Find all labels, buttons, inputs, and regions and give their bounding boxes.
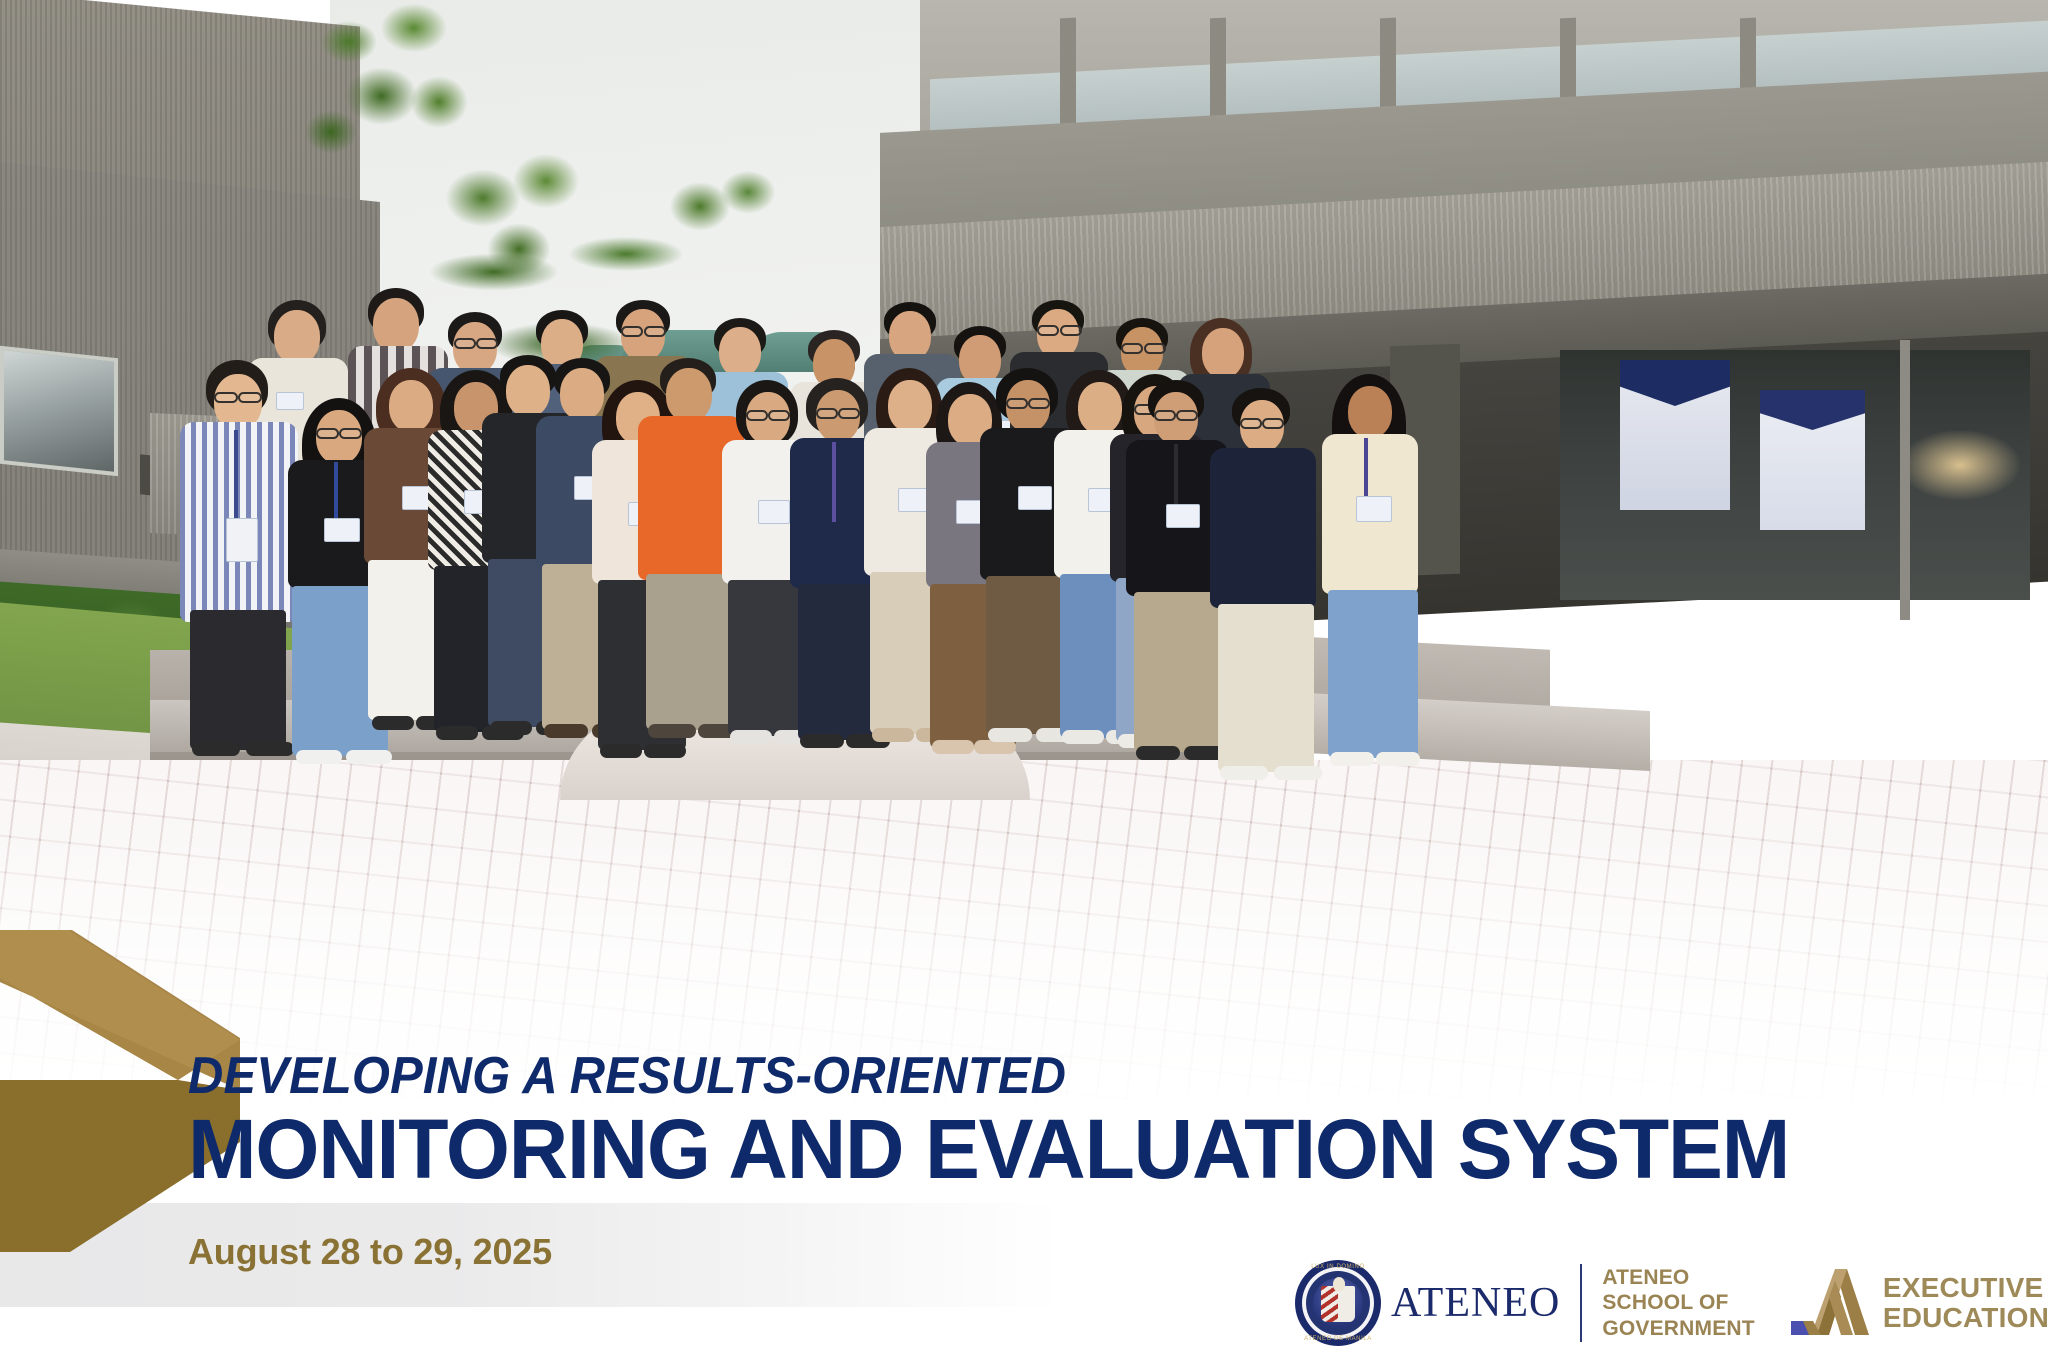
- event-poster: DEVELOPING A RESULTS-ORIENTED MONITORING…: [0, 0, 2048, 1365]
- ateneo-a-mark-icon: [1791, 1267, 1869, 1339]
- nametag-christel: [1356, 496, 1392, 522]
- lobby-standee-left: [1620, 360, 1730, 510]
- exec-line-2: EDUCATION: [1883, 1303, 2048, 1333]
- seal-top-motto: LUX IN DOMINO: [1295, 1264, 1381, 1270]
- event-kicker: DEVELOPING A RESULTS-ORIENTED: [188, 1050, 1880, 1103]
- exec-line-1: EXECUTIVE: [1883, 1273, 2048, 1303]
- seal-flame: [1333, 1277, 1345, 1291]
- seal-shield-left: [1321, 1286, 1338, 1322]
- seal-bottom-motto: ATENEO DE MANILA: [1295, 1336, 1381, 1342]
- lobby-standee-right: [1760, 390, 1865, 530]
- event-date: August 28 to 29, 2025: [188, 1231, 552, 1273]
- glass-door-frame: [1900, 340, 1910, 620]
- logo-lockup: LUX IN DOMINO ATENEO DE MANILA ATENEO AT…: [1295, 1248, 2048, 1358]
- asog-line-1: ATENEO: [1602, 1265, 1755, 1291]
- title-block: DEVELOPING A RESULTS-ORIENTED MONITORING…: [188, 1050, 1988, 1193]
- asog-wordmark: ATENEO SCHOOL OF GOVERNMENT: [1602, 1265, 1755, 1342]
- wall-window: [0, 346, 118, 476]
- event-headline: MONITORING AND EVALUATION SYSTEM: [188, 1107, 1952, 1193]
- seal-shield-right: [1338, 1286, 1355, 1322]
- ateneo-seal-icon: LUX IN DOMINO ATENEO DE MANILA: [1295, 1260, 1381, 1346]
- executive-education-wordmark: EXECUTIVE EDUCATION: [1883, 1273, 2048, 1333]
- asog-line-2: SCHOOL OF: [1602, 1290, 1755, 1316]
- asog-line-3: GOVERNMENT: [1602, 1316, 1755, 1342]
- ateneo-wordmark: ATENEO: [1391, 1279, 1560, 1327]
- lobby-light: [1900, 430, 2020, 500]
- logo-divider: [1580, 1264, 1582, 1342]
- group-photo: [0, 0, 2048, 1100]
